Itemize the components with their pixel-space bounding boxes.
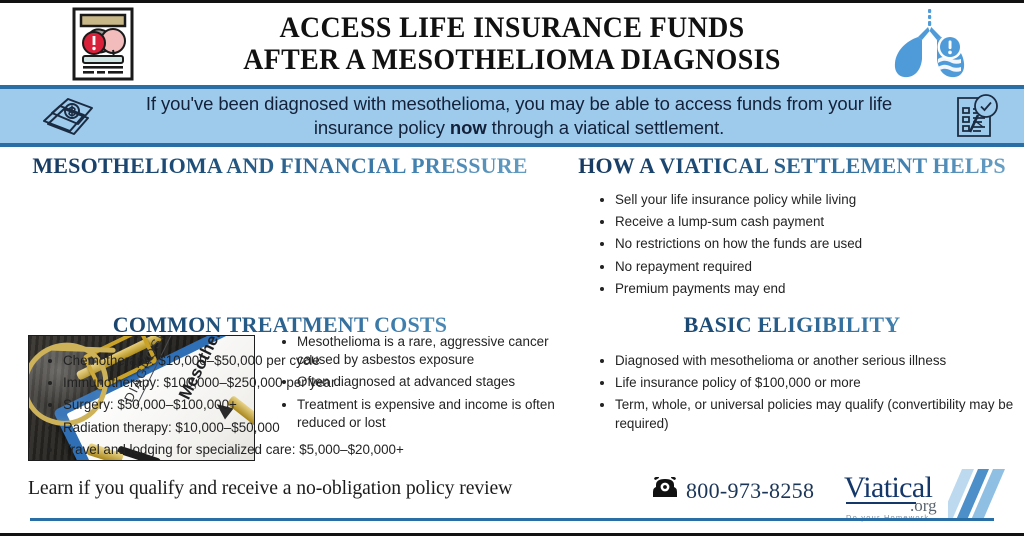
viatical-org-logo[interactable]: Viatical .org Do your Homework [844,469,1010,525]
bullet-list-basic-eligibility: Diagnosed with mesothelioma or another s… [580,352,1024,437]
phone-number[interactable]: 800-973-8258 [686,478,814,504]
list-item: Premium payments may end [600,280,1024,298]
list-item: Life insurance policy of $100,000 or mor… [600,374,1024,392]
page-title: ACCESS LIFE INSURANCE FUNDS AFTER A MESO… [104,12,921,76]
cash-money-icon [40,93,96,139]
list-item: Travel and lodging for specialized care:… [48,441,568,459]
list-item: Surgery: $50,000–$100,000+ [48,396,568,414]
bullet-list-viatical-helps: Sell your life insurance policy while li… [580,191,1024,302]
phone-block[interactable]: 800-973-8258 [652,477,814,504]
section-title-mesothelioma-financial: MESOTHELIOMA AND FINANCIAL PRESSURE [0,153,560,179]
list-item: Diagnosed with mesothelioma or another s… [600,352,1024,370]
infographic-root: ACCESS LIFE INSURANCE FUNDS AFTER A MESO… [0,0,1024,536]
banner-text-after: through a viatical settlement. [487,117,725,138]
footer-divider [30,518,994,521]
logo-underline [846,502,916,504]
list-item: Receive a lump-sum cash payment [600,213,1024,231]
section-title-treatment-costs: COMMON TREATMENT COSTS [0,312,560,338]
highlight-banner: If you've been diagnosed with mesothelio… [0,85,1024,147]
list-item: Sell your life insurance policy while li… [600,191,1024,209]
list-item: No restrictions on how the funds are use… [600,235,1024,253]
footer: Learn if you qualify and receive a no-ob… [0,467,1024,533]
bullet-list-treatment-costs: Chemotherapy: $10,000–$50,000 per cycle … [28,352,568,463]
content-area: MESOTHELIOMA AND FINANCIAL PRESSURE DIAG… [0,147,1024,467]
footer-cta-text: Learn if you qualify and receive a no-ob… [28,477,512,500]
telephone-icon [652,477,678,504]
banner-text: If you've been diagnosed with mesothelio… [96,92,950,141]
header: ACCESS LIFE INSURANCE FUNDS AFTER A MESO… [0,3,1024,85]
list-item: Immunotherapy: $100,000–$250,000 per yea… [48,374,568,392]
lungs-alert-icon [888,7,972,86]
section-title-viatical-helps: HOW A VIATICAL SETTLEMENT HELPS [560,153,1024,179]
section-title-basic-eligibility: BASIC ELIGIBILITY [560,312,1024,338]
list-item: Term, whole, or universal policies may q… [600,396,1024,432]
viatical-slashes-logo [948,469,1010,523]
list-item: Radiation therapy: $10,000–$50,000 [48,419,568,437]
banner-emphasis: now [450,117,487,138]
document-magnifier-check-icon [950,90,1002,142]
list-item: No repayment required [600,258,1024,276]
list-item: Chemotherapy: $10,000–$50,000 per cycle [48,352,568,370]
